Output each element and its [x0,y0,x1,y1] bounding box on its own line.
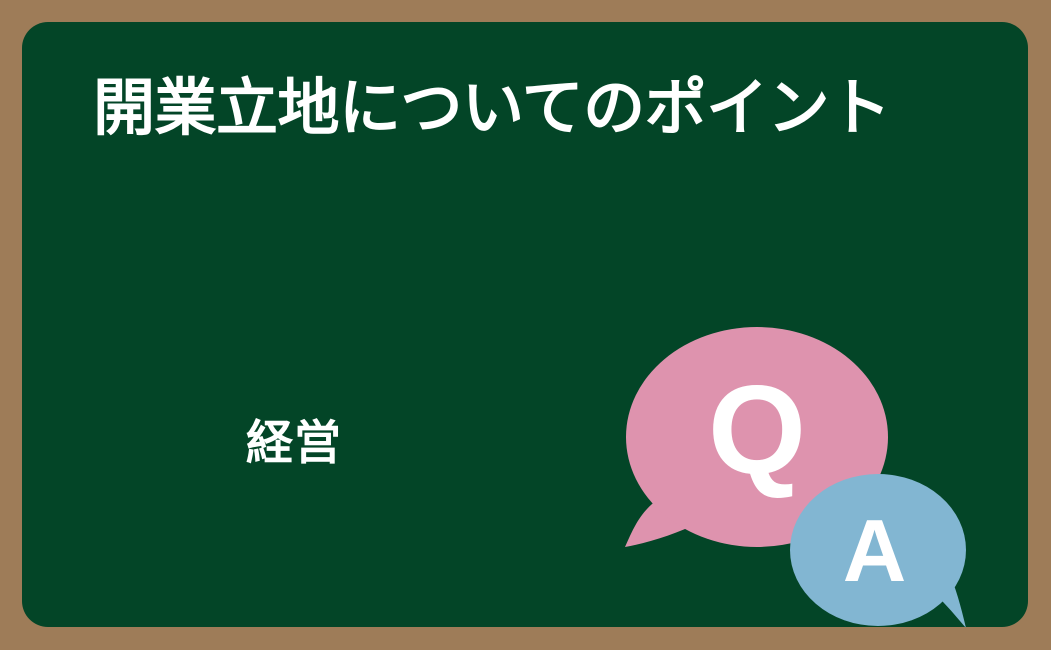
category-label: 経営 [246,420,342,467]
chalkboard-panel: 開業立地についてのポイント 経営 Q A [22,22,1028,627]
page-title-text: 開業立地についてのポイント [93,71,891,144]
answer-bubble-label: A [817,507,932,595]
page-title: 開業立地についてのポイント [93,59,983,156]
question-bubble-label: Q [692,367,822,493]
slide-canvas: 開業立地についてのポイント 経営 Q A [0,0,1051,650]
page-title-line: 開業立地についてのポイント [93,59,983,156]
